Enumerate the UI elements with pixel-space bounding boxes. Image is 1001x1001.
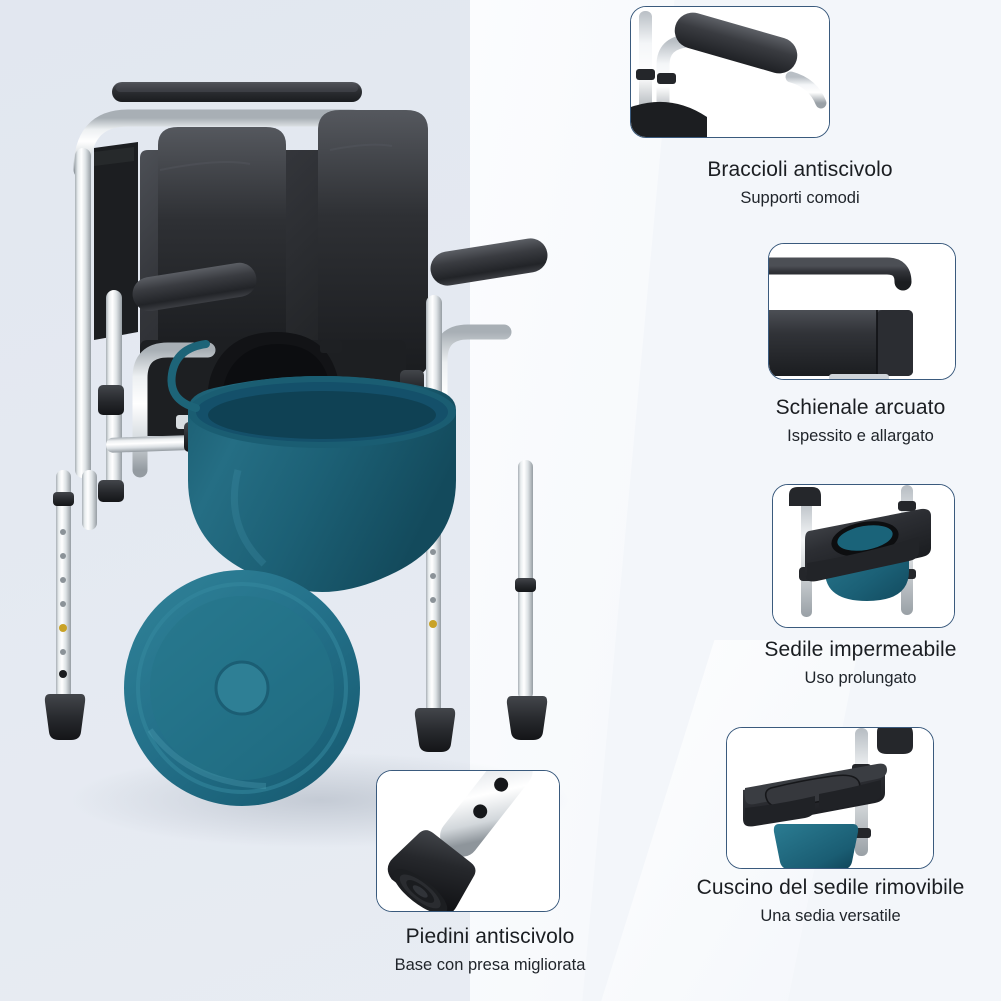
caption-seat-subtitle: Uso prolungato <box>720 669 1001 688</box>
detail-card-seat <box>772 484 955 628</box>
caption-armrest: Braccioli antiscivolo Supporti comodi <box>600 158 1000 208</box>
infographic-canvas: Braccioli antiscivolo Supporti comodi <box>0 0 1001 1001</box>
detail-card-cushion <box>726 727 934 869</box>
caption-foot-title: Piedini antiscivolo <box>340 925 640 949</box>
caption-foot: Piedini antiscivolo Base con presa migli… <box>340 925 640 975</box>
caption-seat: Sedile impermeabile Uso prolungato <box>720 638 1001 688</box>
seat-photo <box>773 485 954 627</box>
caption-armrest-subtitle: Supporti comodi <box>600 189 1000 208</box>
caption-backrest-title: Schienale arcuato <box>720 396 1001 420</box>
hero-product-image <box>20 40 620 870</box>
foot-photo <box>377 771 559 911</box>
detail-card-armrest <box>630 6 830 138</box>
caption-cushion-title: Cuscino del sedile rimovibile <box>660 876 1001 900</box>
armrest-photo <box>631 7 829 137</box>
commode-chair-illustration <box>20 40 620 870</box>
caption-cushion: Cuscino del sedile rimovibile Una sedia … <box>660 876 1001 926</box>
caption-armrest-title: Braccioli antiscivolo <box>600 158 1000 182</box>
caption-seat-title: Sedile impermeabile <box>720 638 1001 662</box>
caption-cushion-subtitle: Una sedia versatile <box>660 907 1001 926</box>
cushion-photo <box>727 728 933 868</box>
detail-card-backrest <box>768 243 956 380</box>
backrest-photo <box>769 244 955 379</box>
detail-card-foot <box>376 770 560 912</box>
caption-backrest-subtitle: Ispessito e allargato <box>720 427 1001 446</box>
caption-backrest: Schienale arcuato Ispessito e allargato <box>720 396 1001 446</box>
caption-foot-subtitle: Base con presa migliorata <box>340 956 640 975</box>
